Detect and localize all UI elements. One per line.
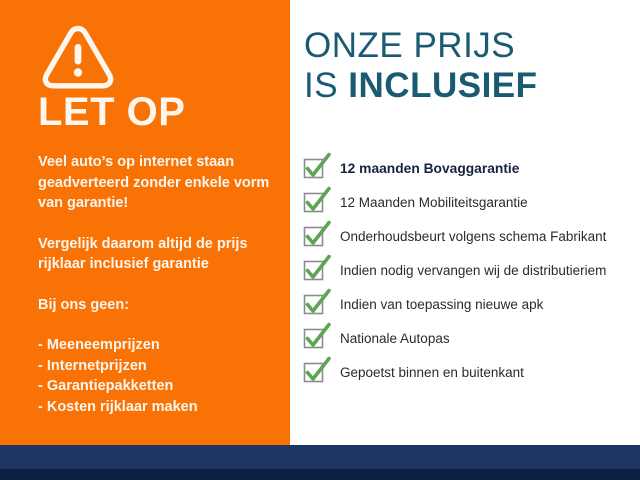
checkbox-checked-icon (304, 294, 326, 316)
list-item: Onderhoudsbeurt volgens schema Fabrikant (304, 220, 640, 254)
list-item: Gepoetst binnen en buitenkant (304, 356, 640, 390)
list-item-label: Indien van toepassing nieuwe apk (340, 297, 543, 313)
list-item-label: Gepoetst binnen en buitenkant (340, 365, 524, 381)
footer-bar (0, 445, 640, 469)
inclusive-price-panel: ONZE PRIJS IS INCLUSIEF 12 maanden Bovag… (290, 0, 640, 445)
warning-triangle-icon (40, 22, 116, 90)
promo-banner: LET OP Veel auto’s op internet staan gea… (0, 0, 640, 480)
list-item: 12 Maanden Mobiliteitsgarantie (304, 186, 640, 220)
list-item-label: 12 maanden Bovaggarantie (340, 161, 519, 177)
headline-line-1: ONZE PRIJS (304, 26, 538, 66)
warning-paragraph-1: Veel auto’s op internet staan geadvertee… (38, 152, 274, 214)
headline-line-2: IS INCLUSIEF (304, 66, 538, 106)
list-item: - Internetprijzen (38, 356, 274, 377)
list-item-label: Indien nodig vervangen wij de distributi… (340, 263, 606, 279)
list-item: Nationale Autopas (304, 322, 640, 356)
list-item-label: Nationale Autopas (340, 331, 450, 347)
warning-paragraph-3: Bij ons geen: (38, 295, 274, 316)
exclusions-list: - Meeneemprijzen - Internetprijzen - Gar… (38, 335, 274, 417)
checkbox-checked-icon (304, 192, 326, 214)
headline: ONZE PRIJS IS INCLUSIEF (304, 26, 538, 106)
footer-bar-shadow (0, 469, 640, 480)
checkbox-checked-icon (304, 226, 326, 248)
checkbox-checked-icon (304, 328, 326, 350)
checkbox-checked-icon (304, 260, 326, 282)
headline-line-2-prefix: IS (304, 66, 348, 105)
list-item: Indien van toepassing nieuwe apk (304, 288, 640, 322)
warning-paragraph-2: Vergelijk daarom altijd de prijs rijklaa… (38, 234, 274, 275)
checkbox-checked-icon (304, 362, 326, 384)
list-item-label: 12 Maanden Mobiliteitsgarantie (340, 195, 528, 211)
list-item: 12 maanden Bovaggarantie (304, 152, 640, 186)
list-item: - Meeneemprijzen (38, 335, 274, 356)
list-item-label: Onderhoudsbeurt volgens schema Fabrikant (340, 229, 606, 245)
list-item: - Kosten rijklaar maken (38, 397, 274, 418)
warning-body: Veel auto’s op internet staan geadvertee… (38, 152, 274, 417)
headline-line-2-bold: INCLUSIEF (348, 66, 537, 105)
list-item: - Garantiepakketten (38, 376, 274, 397)
warning-panel: LET OP Veel auto’s op internet staan gea… (0, 0, 290, 445)
page-title: LET OP (38, 92, 185, 132)
checkbox-checked-icon (304, 158, 326, 180)
inclusions-checklist: 12 maanden Bovaggarantie 12 Maanden Mobi… (304, 152, 640, 390)
list-item: Indien nodig vervangen wij de distributi… (304, 254, 640, 288)
